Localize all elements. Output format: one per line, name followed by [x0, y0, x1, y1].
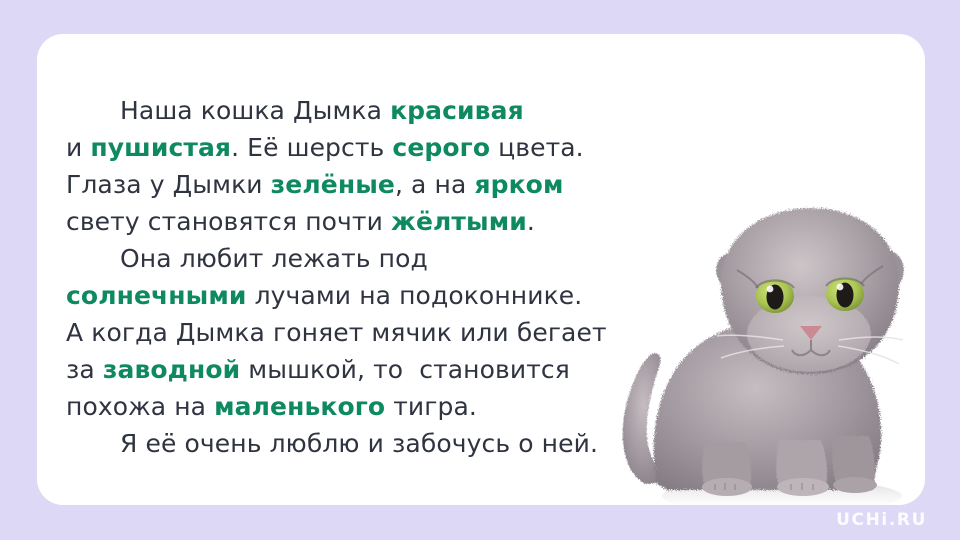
- kitten-paws: [702, 477, 877, 496]
- highlighted-word: серого: [392, 133, 490, 162]
- highlighted-word: зелёные: [271, 170, 395, 199]
- kitten-shadow: [662, 479, 902, 505]
- kitten-tail: [623, 353, 669, 484]
- story-text-run: свету становятся почти: [66, 207, 391, 236]
- story-paragraph: Наша кошка Дымка красивая и пушистая. Её…: [66, 92, 626, 240]
- highlighted-word: красивая: [390, 96, 524, 125]
- kitten-head: [716, 208, 904, 374]
- highlighted-word: ярком: [474, 170, 563, 199]
- highlighted-word: пушистая: [90, 133, 231, 162]
- story-text-run: Наша кошка Дымка: [120, 96, 390, 125]
- story-text-run: .: [527, 207, 535, 236]
- kitten-whiskers: [717, 335, 903, 364]
- story-text-run: тигра.: [385, 392, 477, 421]
- story-text-run: . Её шерсть: [231, 133, 392, 162]
- kitten-illustration: [597, 184, 925, 505]
- content-card: Наша кошка Дымка красивая и пушистая. Её…: [37, 34, 925, 505]
- kitten-nose: [800, 326, 822, 340]
- story-text-run: , а на: [395, 170, 474, 199]
- kitten-body: [654, 321, 882, 490]
- kitten-legs: [702, 436, 875, 490]
- story-text-run: Я её очень люблю и забочусь о ней.: [120, 429, 598, 458]
- story-paragraph: Она любит лежать под солнечными лучами н…: [66, 240, 626, 425]
- highlighted-word: солнечными: [66, 281, 247, 310]
- uchi-ru-watermark: UCHi.RU: [836, 510, 927, 530]
- highlighted-word: заводной: [103, 355, 240, 384]
- slide-root: Наша кошка Дымка красивая и пушистая. Её…: [0, 0, 960, 540]
- kitten-eyes: [756, 277, 864, 313]
- story-text: Наша кошка Дымка красивая и пушистая. Её…: [66, 92, 626, 462]
- story-text-run: Она любит лежать под: [120, 244, 428, 273]
- highlighted-word: маленького: [214, 392, 385, 421]
- story-paragraph: Я её очень люблю и забочусь о ней.: [66, 425, 626, 462]
- story-text-run: и: [66, 133, 90, 162]
- kitten-ears: [716, 250, 904, 296]
- highlighted-word: жёлтыми: [391, 207, 527, 236]
